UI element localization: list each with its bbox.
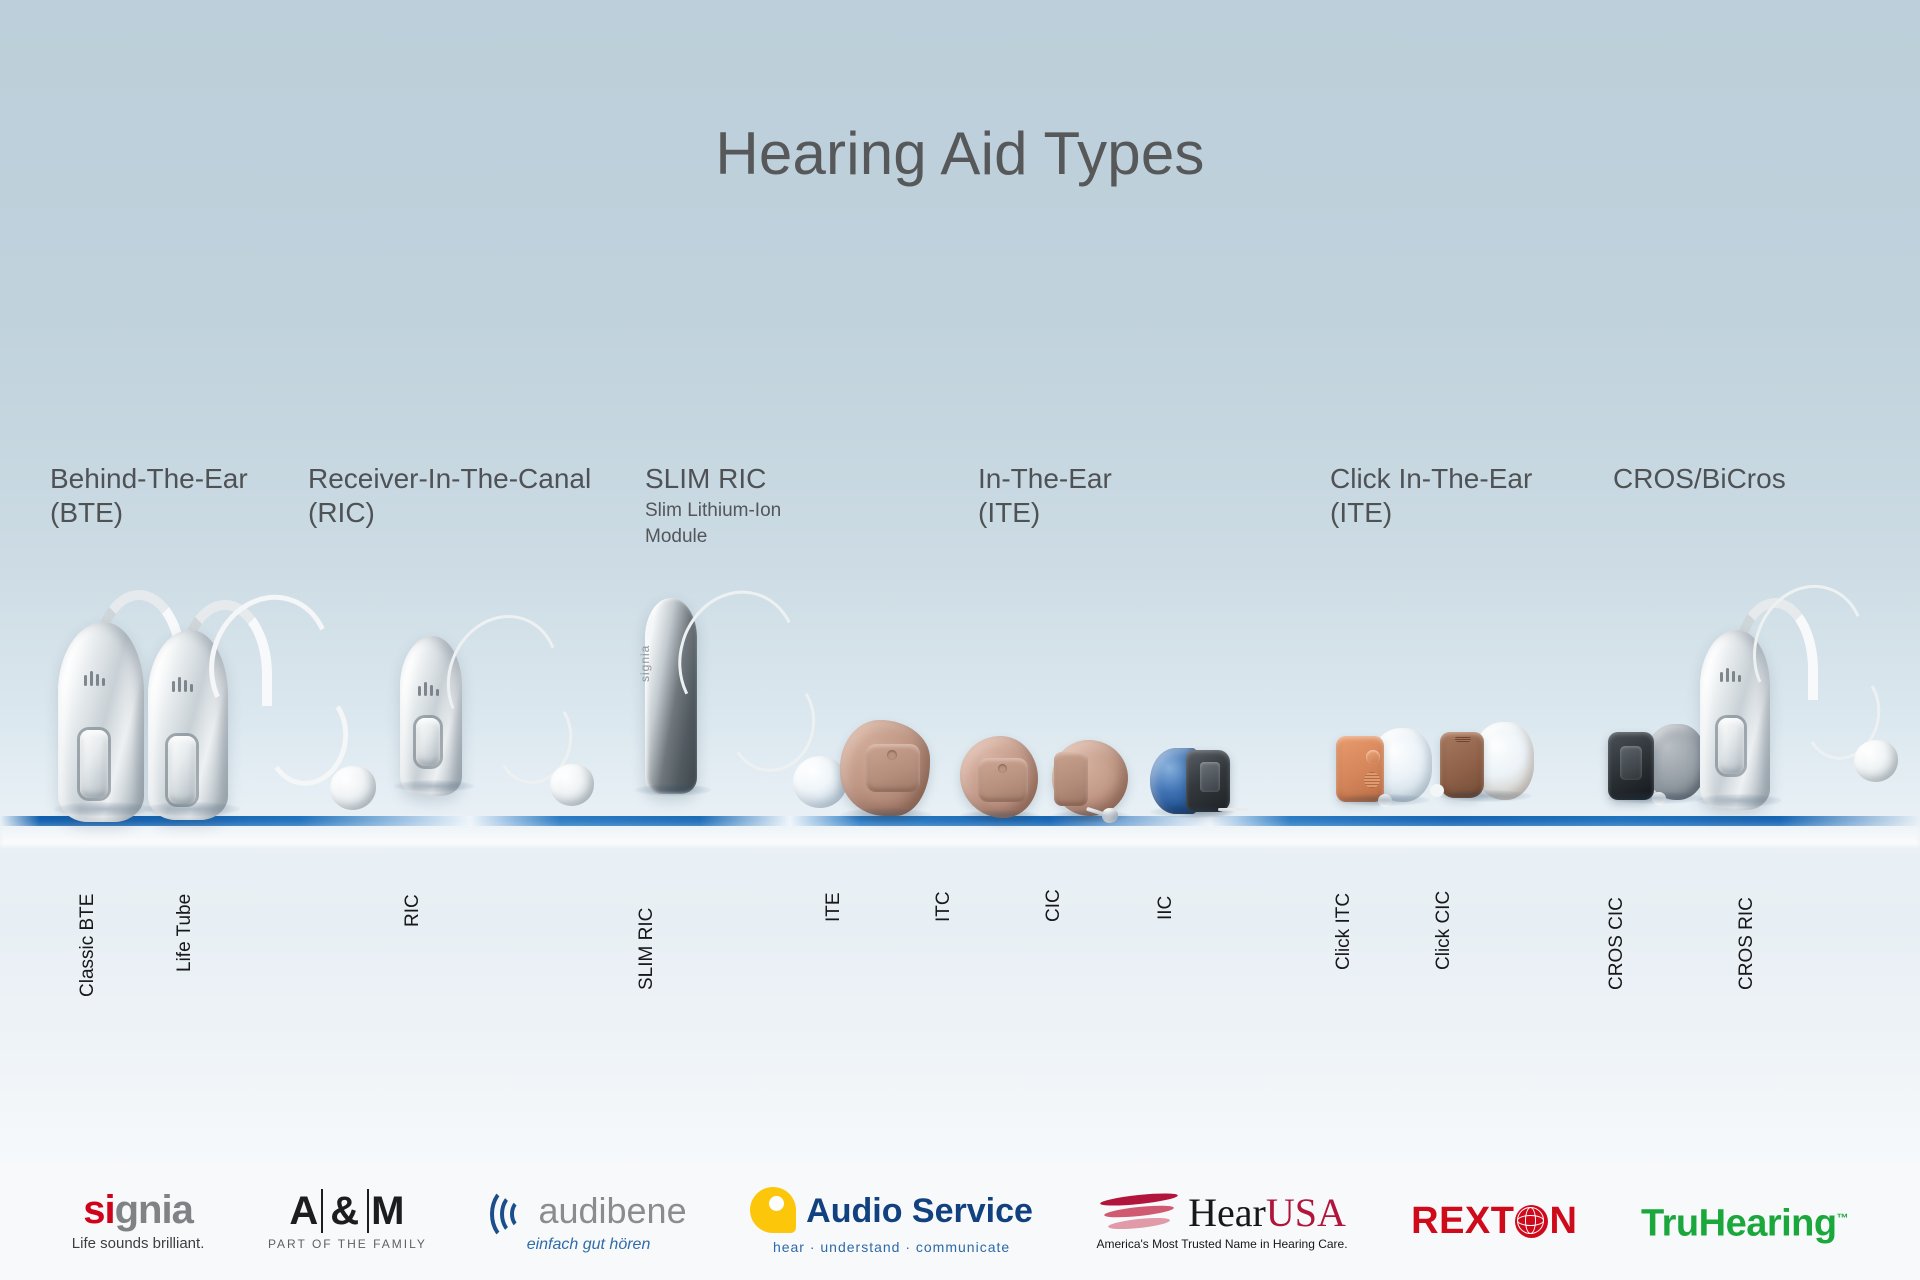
product-label-ric: RIC [402,894,424,927]
hearusa-row: HearUSA [1098,1191,1346,1235]
slim-ric-brand-label: signia [638,645,652,682]
product-label-itc: ITC [933,891,955,922]
device-shadow [1336,794,1430,806]
category-title: Behind-The-Ear (BTE) [50,462,280,530]
audio-service-row: Audio Service [750,1187,1033,1235]
background-lower [0,822,1920,1162]
click-itc-microphone-grille [1364,772,1380,788]
ear-mark-icon [750,1187,796,1235]
am-wordmark: A&M [289,1191,405,1231]
signia-tagline: Life sounds brilliant. [72,1235,205,1252]
ric-rocker-button[interactable] [416,718,440,766]
device-shadow [1052,810,1130,822]
category-slim-ric: SLIM RIC Slim Lithium-Ion Module [645,462,875,550]
bte-vent-icon [84,670,106,686]
iic-battery-door[interactable] [1200,762,1220,792]
category-in-the-ear: In-The-Ear (ITE) [978,462,1208,532]
truhearing-trademark: ™ [1837,1211,1849,1225]
logo-truhearing[interactable]: TruHearing™ [1641,1199,1848,1243]
flag-wave-icon [1098,1191,1180,1235]
category-click-in-the-ear: Click In-The-Ear (ITE) [1330,462,1580,532]
logo-hearusa[interactable]: HearUSA America's Most Trusted Name in H… [1097,1191,1348,1251]
ear-dome-clear [793,756,847,808]
ear-dome [1854,740,1898,782]
hearusa-word-part1: Hear [1188,1190,1266,1235]
category-title: CROS/BiCros [1613,462,1863,496]
hearing-aid-types-poster: Hearing Aid Types Behind-The-Ear (BTE) R… [0,0,1920,1280]
am-word-left: A [289,1189,319,1233]
truhearing-wordmark: TruHearing™ [1641,1199,1848,1243]
category-title: SLIM RIC [645,462,875,496]
click-itc-faceplate [1336,736,1384,802]
logo-a-and-m[interactable]: A&M PART OF THE FAMILY [268,1191,427,1251]
logo-signia[interactable]: signia Life sounds brilliant. [72,1190,205,1252]
product-label-classic-bte: Classic BTE [77,894,99,997]
signia-word-part2: gnia [115,1188,193,1232]
audibene-row: audibene [490,1188,686,1234]
product-label-life-tube: Life Tube [174,894,196,972]
device-shadow [1150,806,1234,818]
device-shadow [54,802,154,816]
sound-wave-icon [490,1188,532,1234]
category-receiver-in-the-canal: Receiver-In-The-Canal (RIC) [308,462,608,532]
logo-audio-service[interactable]: Audio Service hear · understand · commun… [750,1187,1033,1255]
ear-dome [330,766,376,810]
bte-vent-icon [172,676,194,692]
audio-service-wordmark: Audio Service [806,1194,1033,1228]
product-label-cic: CIC [1043,889,1065,922]
logo-rexton[interactable]: REXT N [1411,1202,1577,1240]
bte-rocker-button[interactable] [168,736,196,804]
hearusa-word-part2: USA [1266,1190,1346,1235]
brand-footer: signia Life sounds brilliant. A&M PART O… [0,1162,1920,1280]
device-shadow [144,802,240,816]
rexton-word-part1: REXT [1411,1202,1514,1240]
itc-microphone-port [998,764,1007,773]
product-label-ite: ITE [823,892,845,922]
cic-faceplate [1054,752,1088,806]
device-shadow [840,808,932,822]
product-label-click-itc: Click ITC [1333,893,1355,970]
audibene-tagline: einfach gut hören [527,1236,651,1254]
am-tagline: PART OF THE FAMILY [268,1237,427,1251]
category-behind-the-ear: Behind-The-Ear (BTE) [50,462,280,532]
signia-wordmark: signia [83,1190,193,1230]
am-word-right: M [371,1189,405,1233]
ear-dome [550,764,594,806]
device-shadow [1696,794,1782,807]
logo-audibene[interactable]: audibene einfach gut hören [490,1188,686,1254]
device-shadow [1608,792,1704,804]
rexton-word-part2: N [1549,1202,1577,1240]
category-subtitle: Slim Lithium-Ion Module [645,498,875,550]
device-shadow [1440,790,1532,802]
device-shadow [960,810,1040,822]
product-label-cros-ric: CROS RIC [1736,897,1758,990]
page-title: Hearing Aid Types [0,119,1920,188]
product-label-iic: IIC [1155,896,1177,920]
product-label-slim-ric: SLIM RIC [636,908,658,990]
signia-word-part1: si [83,1188,114,1232]
category-title: Click In-The-Ear (ITE) [1330,462,1580,530]
ite-microphone-port [887,750,897,760]
device-shadow [635,784,711,796]
audio-service-tagline: hear · understand · communicate [773,1239,1010,1255]
device-shadow [394,780,474,792]
cros-cic-battery-door[interactable] [1620,746,1642,780]
ric-vent-icon [418,680,440,696]
audibene-wordmark: audibene [538,1193,686,1229]
truhearing-word: TruHearing [1641,1203,1837,1245]
click-cic-microphone-port [1455,736,1471,742]
brand-logo-row: signia Life sounds brilliant. A&M PART O… [0,1162,1920,1280]
category-title: In-The-Ear (ITE) [978,462,1208,530]
cros-ric-rocker-button[interactable] [1718,718,1744,774]
globe-icon [1515,1205,1548,1238]
hearusa-wordmark: HearUSA [1188,1193,1346,1233]
cros-ric-vent-icon [1720,666,1742,682]
rexton-wordmark: REXT N [1411,1202,1577,1240]
click-itc-push-button[interactable] [1366,750,1380,764]
category-title: Receiver-In-The-Canal (RIC) [308,462,608,530]
am-word-mid: & [321,1189,369,1233]
bte-rocker-button[interactable] [80,730,108,798]
hearusa-tagline: America's Most Trusted Name in Hearing C… [1097,1237,1348,1251]
product-label-click-cic: Click CIC [1433,891,1455,970]
baseline-reflection [0,820,1920,846]
product-label-cros-cic: CROS CIC [1606,897,1628,990]
category-cros-bicros: CROS/BiCros [1613,462,1863,498]
